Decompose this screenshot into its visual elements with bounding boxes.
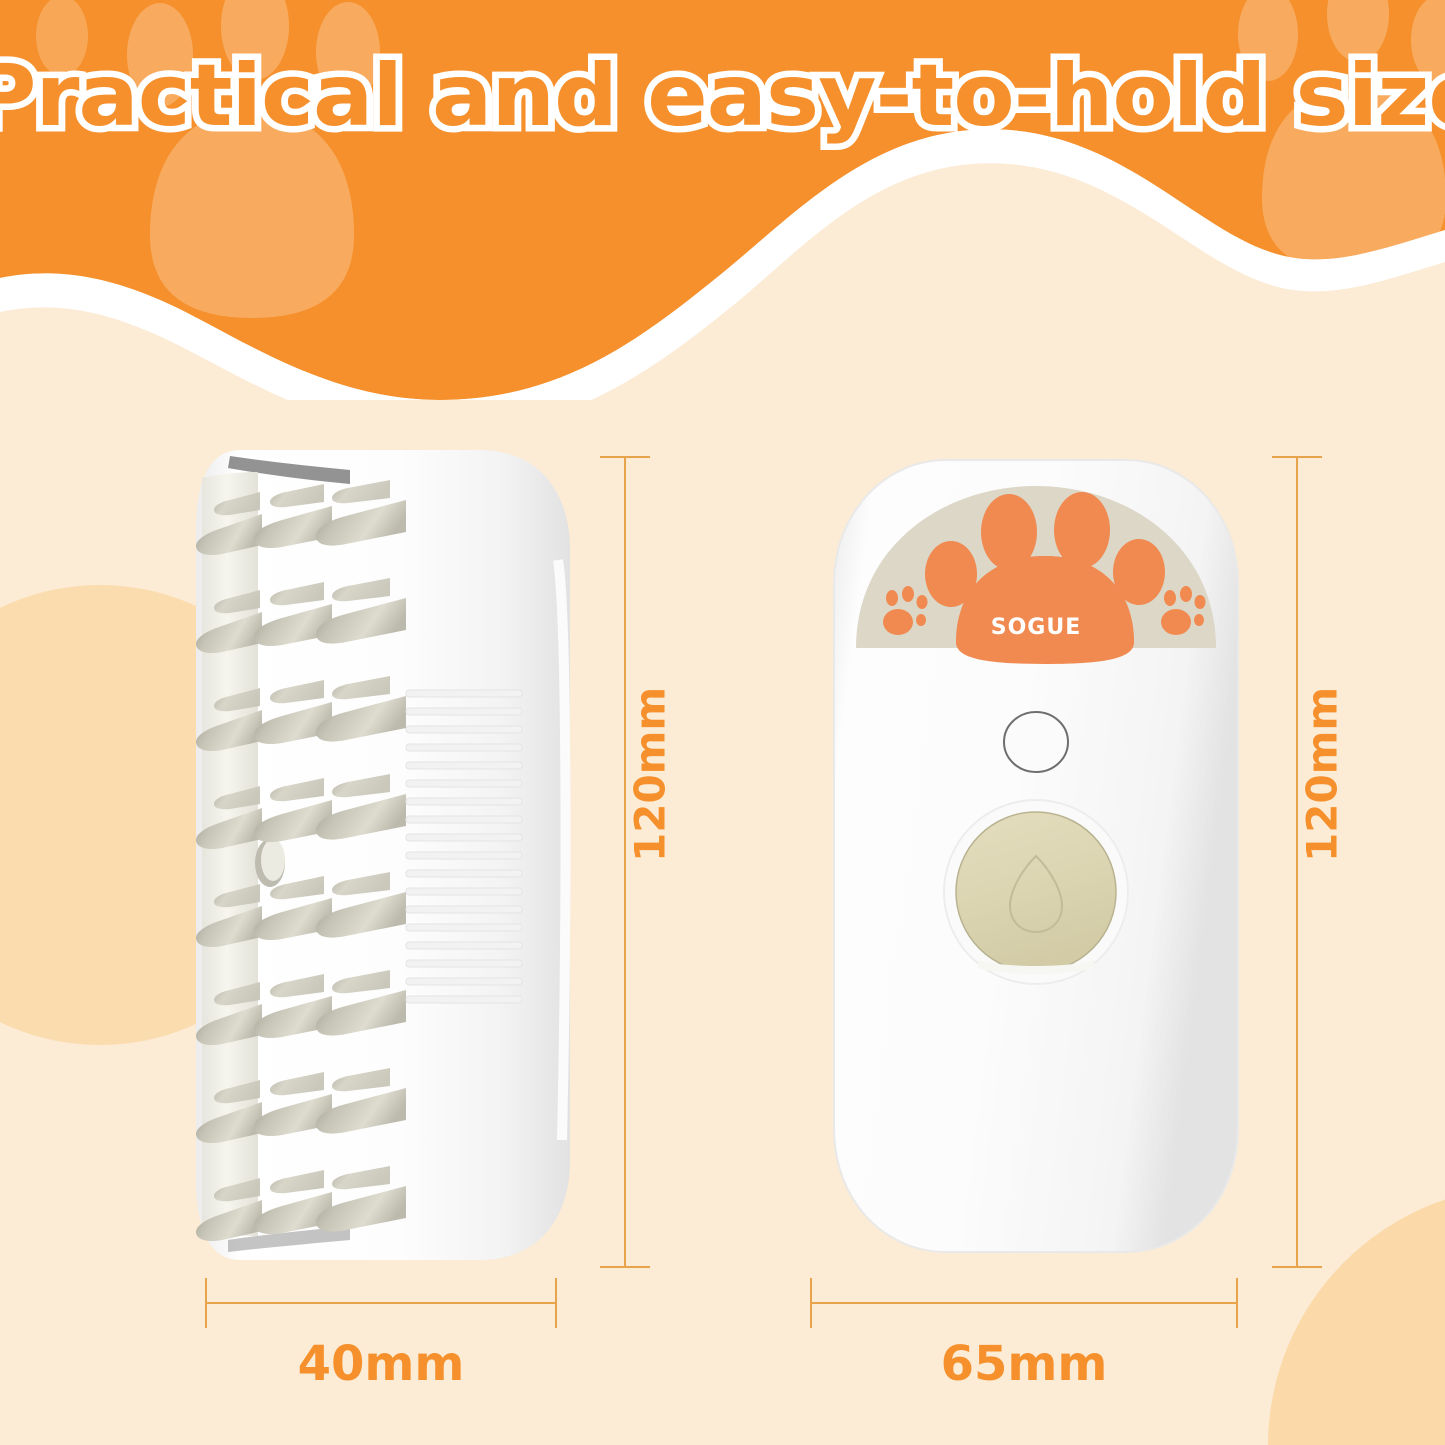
- dim-cap-bottom: [1272, 1266, 1322, 1268]
- page-title-text: Practical and easy-to-hold size: [0, 46, 1445, 146]
- dim-line: [624, 456, 626, 1268]
- dimension-left-height: 120mm: [600, 456, 720, 1268]
- dimension-right-width: 65mm: [810, 1278, 1238, 1398]
- dim-cap-right: [555, 1278, 557, 1328]
- brand-label: SOGUE: [826, 615, 1246, 640]
- dim-cap-bottom: [600, 1266, 650, 1268]
- brush-drain-hole-inner: [261, 839, 285, 881]
- product-brush-side-view: [110, 440, 610, 1270]
- power-button[interactable]: [1004, 712, 1068, 772]
- page-title: Practical and easy-to-hold size: [0, 46, 1445, 146]
- dim-cap-right: [1236, 1278, 1238, 1328]
- dimension-right-height: 120mm: [1272, 456, 1392, 1268]
- dim-line: [205, 1302, 557, 1304]
- dim-line: [810, 1302, 1238, 1304]
- header-banner: Practical and easy-to-hold size: [0, 0, 1445, 400]
- dimension-right-height-label: 120mm: [1298, 687, 1347, 862]
- dimension-left-width-label: 40mm: [205, 1336, 557, 1392]
- dimension-left-width: 40mm: [205, 1278, 557, 1398]
- product-brush-front-view: [826, 452, 1246, 1262]
- dim-line: [1296, 456, 1298, 1268]
- tank-cap[interactable]: [956, 812, 1116, 972]
- dimension-left-height-label: 120mm: [626, 687, 675, 862]
- infographic-canvas: Practical and easy-to-hold size: [0, 0, 1445, 1445]
- dimension-right-width-label: 65mm: [810, 1336, 1238, 1392]
